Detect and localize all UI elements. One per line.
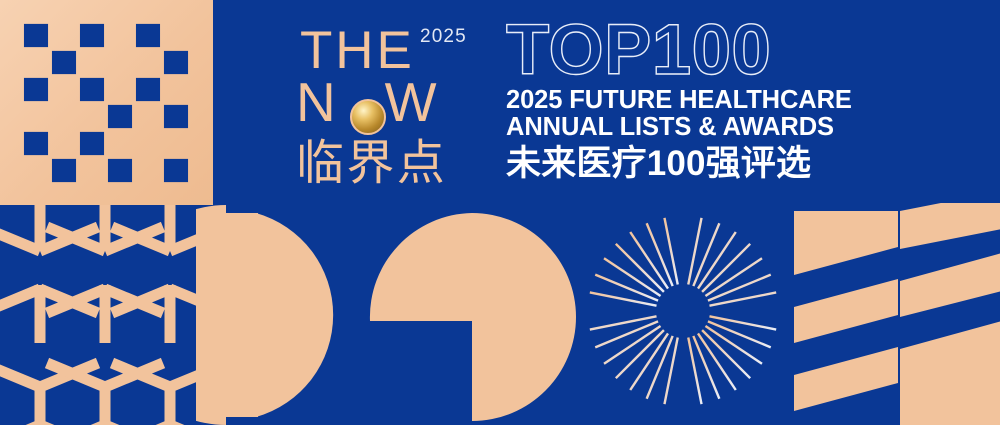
checkerboard-grid bbox=[22, 22, 190, 184]
sunburst-ray bbox=[664, 337, 677, 404]
stripe-panel-right bbox=[900, 203, 1000, 425]
chinese-headline: 未来医疗100强评选 bbox=[506, 145, 846, 182]
checker-cell bbox=[80, 78, 104, 101]
checker-cell bbox=[164, 159, 188, 182]
checker-cell bbox=[22, 103, 50, 130]
checker-cell bbox=[162, 22, 190, 49]
logo-chinese-text: 临界点 bbox=[296, 140, 447, 188]
the-now-logo: THE 2025 NOW 临界点 bbox=[296, 22, 491, 194]
checker-cell bbox=[22, 49, 50, 76]
sunburst-ray bbox=[709, 292, 776, 305]
sunburst-ray bbox=[688, 218, 701, 285]
checker-cell bbox=[24, 78, 48, 101]
notched-circle bbox=[370, 213, 576, 421]
checker-cell bbox=[50, 76, 78, 103]
checker-cell bbox=[134, 49, 162, 76]
checker-cell bbox=[106, 49, 134, 76]
sunburst-ray bbox=[709, 316, 776, 329]
checker-cell bbox=[78, 157, 106, 184]
checker-cell bbox=[134, 130, 162, 157]
sunburst-ray bbox=[688, 337, 701, 404]
checker-cell bbox=[22, 157, 50, 184]
hexagon-lattice-pattern bbox=[0, 205, 205, 425]
checker-cell bbox=[106, 22, 134, 49]
sunburst-ray bbox=[616, 244, 664, 292]
logo-now-w: W bbox=[385, 71, 440, 133]
checker-cell bbox=[50, 22, 78, 49]
checker-cell bbox=[50, 103, 78, 130]
checkerboard-pattern bbox=[0, 0, 213, 205]
logo-year-text: 2025 bbox=[420, 26, 467, 48]
checker-cell bbox=[136, 24, 160, 47]
sunburst-ray bbox=[702, 330, 750, 378]
checker-cell bbox=[24, 24, 48, 47]
checker-cell bbox=[80, 132, 104, 155]
gold-sphere-icon bbox=[350, 99, 386, 135]
english-subtitle-line-2: ANNUAL LISTS & AWARDS bbox=[506, 114, 846, 141]
checker-cell bbox=[106, 130, 134, 157]
sunburst-pattern bbox=[585, 213, 781, 409]
checker-cell bbox=[162, 130, 190, 157]
checker-cell bbox=[164, 51, 188, 74]
logo-now-n: N bbox=[296, 71, 339, 133]
sunburst-ray bbox=[702, 244, 750, 292]
english-subtitle-line-1: 2025 FUTURE HEALTHCARE bbox=[506, 87, 846, 114]
checker-cell bbox=[162, 76, 190, 103]
sunburst-ray bbox=[616, 330, 664, 378]
checker-cell bbox=[108, 105, 132, 128]
checker-cell bbox=[106, 76, 134, 103]
stripe-panel-left bbox=[794, 211, 898, 411]
checker-cell bbox=[80, 24, 104, 47]
half-circle-1 bbox=[196, 205, 226, 425]
checker-cell bbox=[50, 130, 78, 157]
checker-cell bbox=[52, 51, 76, 74]
circle-shapes-group bbox=[196, 205, 576, 425]
sunburst-ray bbox=[664, 218, 677, 285]
promo-banner: THE 2025 NOW 临界点 TOP100 2025 FUTURE HEAL… bbox=[0, 0, 1000, 425]
checker-cell bbox=[108, 159, 132, 182]
checker-cell bbox=[134, 157, 162, 184]
sunburst-ray bbox=[590, 292, 657, 305]
checker-cell bbox=[78, 103, 106, 130]
checker-cell bbox=[24, 132, 48, 155]
sunburst-ray bbox=[590, 316, 657, 329]
checker-cell bbox=[134, 103, 162, 130]
checker-cell bbox=[52, 159, 76, 182]
checker-cell bbox=[136, 78, 160, 101]
logo-the-text: THE bbox=[300, 24, 415, 77]
diagonal-stripes-pattern bbox=[790, 203, 1000, 425]
checker-cell bbox=[78, 49, 106, 76]
top100-title: TOP100 bbox=[506, 22, 846, 80]
checker-cell bbox=[164, 105, 188, 128]
headline-block: TOP100 2025 FUTURE HEALTHCARE ANNUAL LIS… bbox=[506, 22, 846, 182]
half-circle-2 bbox=[256, 213, 333, 417]
